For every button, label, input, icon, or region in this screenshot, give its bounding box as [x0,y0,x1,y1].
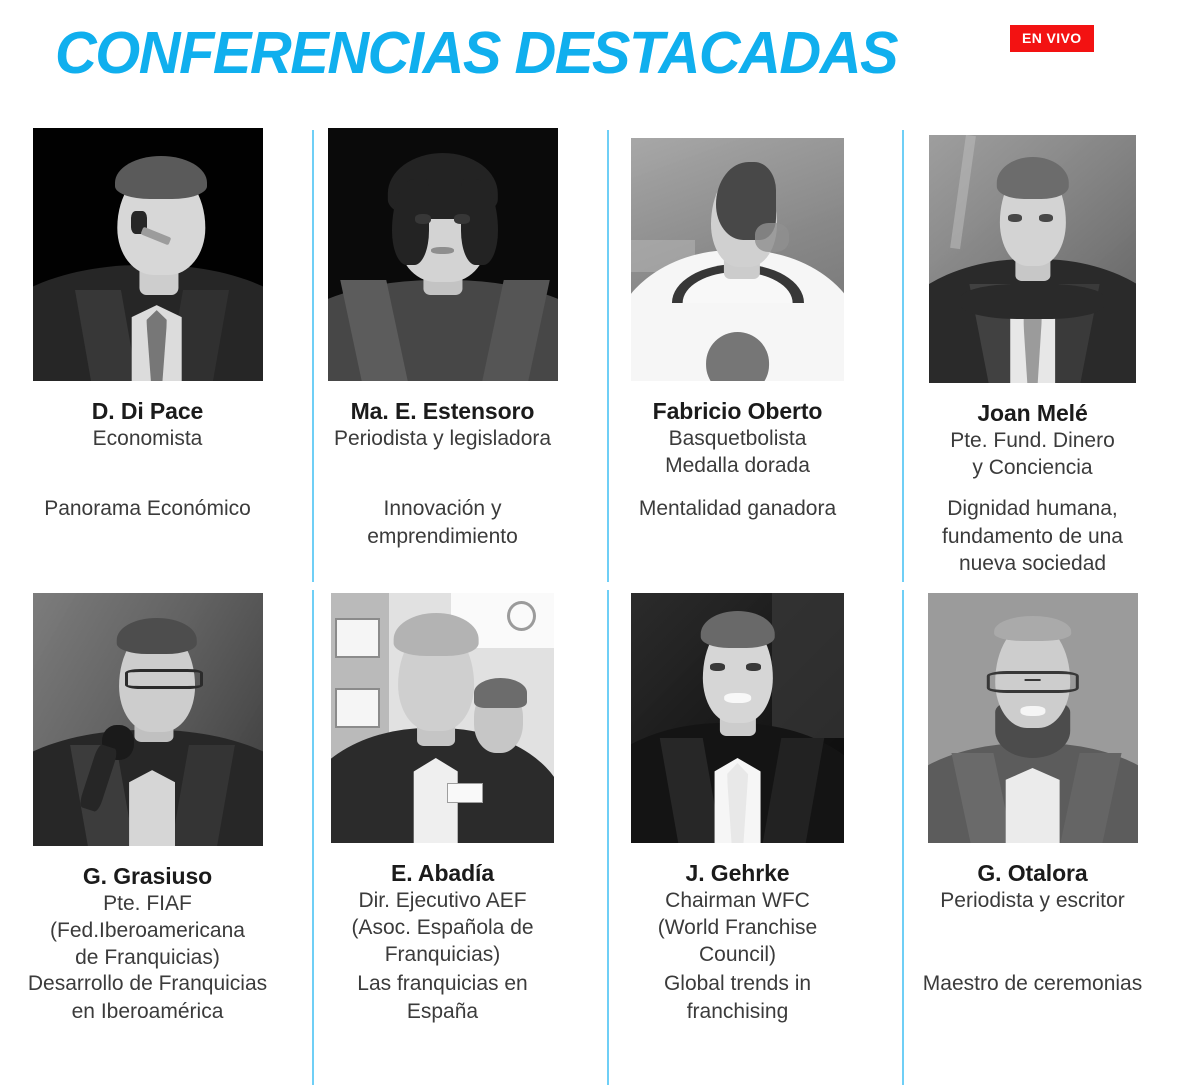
speaker-card-gehrke[interactable]: J. Gehrke Chairman WFC (World Franchise … [590,585,885,1085]
speaker-name: G. Otalora [898,859,1168,888]
speaker-talk-title: Desarrollo de Franquicias en Iberoaméric… [11,970,285,1025]
speaker-role: Dir. Ejecutivo AEF (Asoc. Española de Fr… [308,888,578,969]
speakers-row-2: G. Grasiuso Pte. FIAF (Fed.Iberoamerican… [0,585,1200,1085]
speaker-photo-abadia [331,593,554,843]
speaker-role: Periodista y legisladora [308,426,578,453]
speaker-caption: G. Grasiuso Pte. FIAF (Fed.Iberoamerican… [13,862,283,972]
speaker-photo-otalora [928,593,1138,843]
speaker-caption: D. Di Pace Economista [13,397,283,453]
speaker-photo-gehrke [631,593,844,843]
speaker-role: Pte. FIAF (Fed.Iberoamericana de Franqui… [13,891,283,972]
speaker-role: Basquetbolista Medalla dorada [603,426,873,480]
speaker-photo-di-pace [33,128,263,381]
speaker-talk-title: Mentalidad ganadora [601,495,875,523]
speaker-talk-title: Dignidad humana, fundamento de una nueva… [896,495,1170,578]
speaker-card-mele[interactable]: Joan Melé Pte. Fund. Dinero y Conciencia… [885,120,1180,585]
speaker-role: Economista [13,426,283,453]
speaker-photo-mele [929,135,1136,383]
speaker-caption: J. Gehrke Chairman WFC (World Franchise … [603,859,873,969]
speaker-caption: E. Abadía Dir. Ejecutivo AEF (Asoc. Espa… [308,859,578,969]
speaker-card-grasiuso[interactable]: G. Grasiuso Pte. FIAF (Fed.Iberoamerican… [0,585,295,1085]
speaker-caption: Ma. E. Estensoro Periodista y legislador… [308,397,578,453]
speaker-caption: G. Otalora Periodista y escritor [898,859,1168,915]
page-title: CONFERENCIAS DESTACADAS [55,24,897,83]
speaker-name: D. Di Pace [13,397,283,426]
speaker-name: J. Gehrke [603,859,873,888]
speaker-role: Pte. Fund. Dinero y Conciencia [898,428,1168,482]
speaker-name: G. Grasiuso [13,862,283,891]
speaker-name: Joan Melé [898,399,1168,428]
speaker-card-estensoro[interactable]: Ma. E. Estensoro Periodista y legislador… [295,120,590,585]
speakers-row-1: D. Di Pace Economista Panorama Económico [0,120,1200,585]
speaker-role: Periodista y escritor [898,888,1168,915]
speaker-card-oberto[interactable]: Fabricio Oberto Basquetbolista Medalla d… [590,120,885,585]
speaker-talk-title: Maestro de ceremonias [896,970,1170,998]
speaker-card-di-pace[interactable]: D. Di Pace Economista Panorama Económico [0,120,295,585]
page-header: CONFERENCIAS DESTACADAS EN VIVO [0,0,1200,120]
speaker-photo-grasiuso [33,593,263,846]
speaker-photo-oberto [631,138,844,381]
speaker-name: Fabricio Oberto [603,397,873,426]
speaker-talk-title: Panorama Económico [11,495,285,523]
speaker-role: Chairman WFC (World Franchise Council) [603,888,873,969]
live-badge: EN VIVO [1010,25,1094,52]
speaker-caption: Joan Melé Pte. Fund. Dinero y Conciencia [898,399,1168,482]
speaker-name: E. Abadía [308,859,578,888]
speaker-caption: Fabricio Oberto Basquetbolista Medalla d… [603,397,873,480]
speaker-card-abadia[interactable]: E. Abadía Dir. Ejecutivo AEF (Asoc. Espa… [295,585,590,1085]
speaker-name: Ma. E. Estensoro [308,397,578,426]
speaker-talk-title: Global trends in franchising [601,970,875,1025]
speaker-photo-estensoro [328,128,558,381]
speaker-talk-title: Las franquicias en España [306,970,580,1025]
speaker-talk-title: Innovación y emprendimiento [306,495,580,550]
speaker-card-otalora[interactable]: G. Otalora Periodista y escritor Maestro… [885,585,1180,1085]
speakers-grid: D. Di Pace Economista Panorama Económico [0,120,1200,1085]
